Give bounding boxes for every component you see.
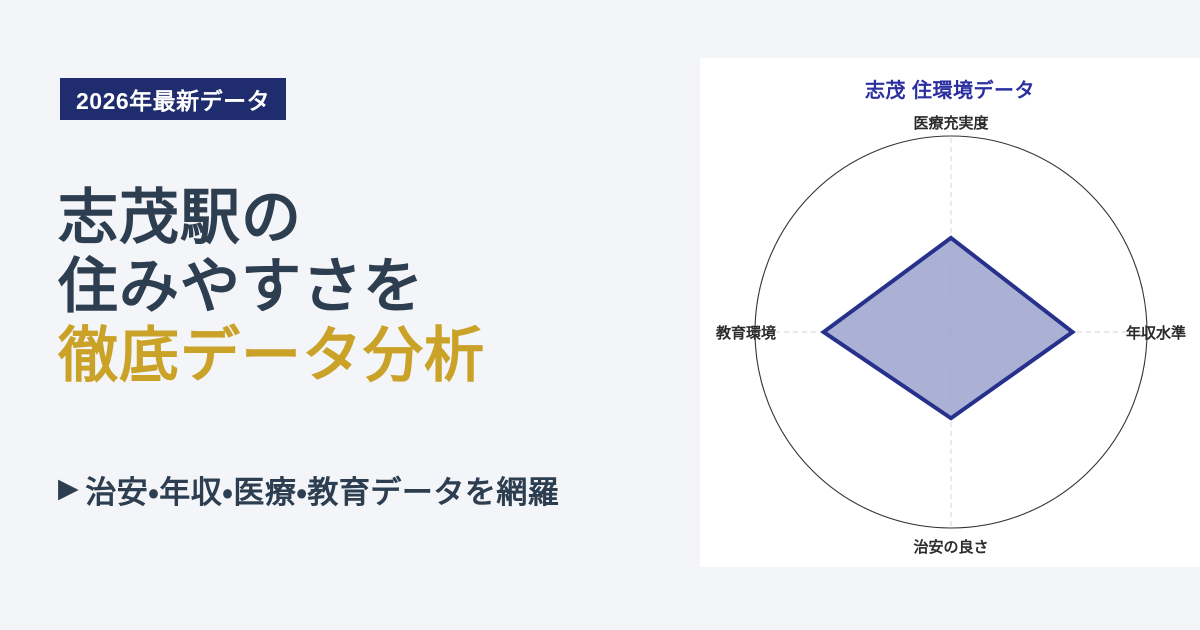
axis-label-income: 年収水準	[1126, 324, 1186, 342]
radar-chart: 医療充実度 年収水準 治安の良さ 教育環境	[700, 58, 1200, 567]
hero-text-column: 2026年最新データ 志茂駅の 住みやすさを 徹底データ分析 ▶ 治安・年収・医…	[0, 0, 700, 630]
headline-line-1: 志茂駅の	[58, 183, 698, 252]
subtitle: ▶ 治安・年収・医療・教育データを網羅	[58, 467, 559, 512]
page-title: 志茂駅の 住みやすさを 徹底データ分析	[58, 183, 698, 390]
headline-line-2: 住みやすさを	[58, 252, 698, 321]
subtitle-label: 治安・年収・医療・教育データを網羅	[85, 467, 559, 512]
axis-label-safety: 治安の良さ	[913, 538, 988, 556]
axis-label-education: 教育環境	[715, 324, 776, 342]
axis-label-medical: 医療充実度	[913, 114, 988, 132]
headline-line-3-accent: 徹底データ分析	[58, 321, 698, 390]
radar-chart-panel: 志茂 住環境データ 医療充実度 年収水準 治安の良さ 教育環境	[700, 58, 1200, 567]
play-triangle-icon: ▶	[58, 475, 79, 502]
latest-data-badge: 2026年最新データ	[60, 78, 286, 120]
radar-data-polygon	[824, 238, 1073, 418]
